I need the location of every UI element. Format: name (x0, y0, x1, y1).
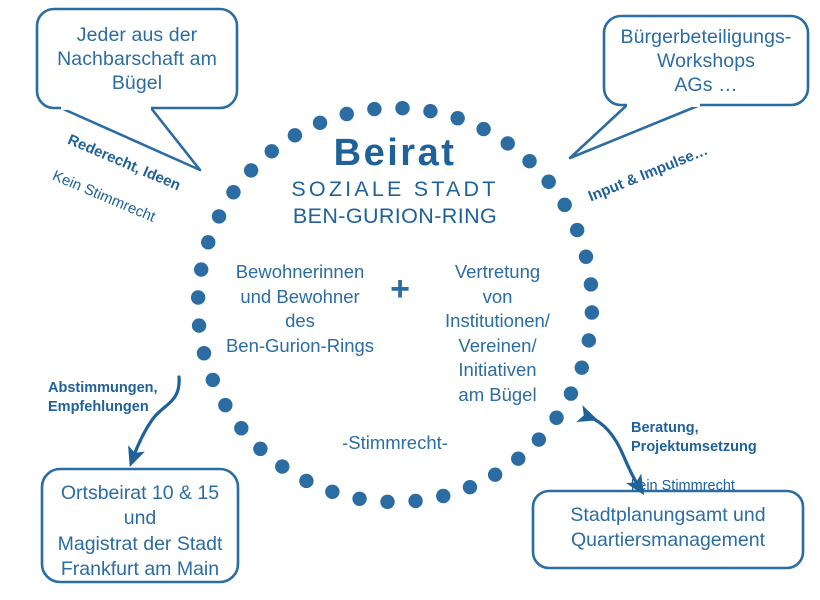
label-beratung-bold: Beratung, Projektumsetzung (631, 419, 811, 457)
ring-dot (450, 111, 464, 125)
ring-dot (549, 411, 563, 425)
label-beratung-projektumsetzung: Beratung, Projektumsetzung kein Stimmrec… (631, 400, 811, 515)
plus-icon: + (385, 272, 415, 306)
ring-dot (557, 198, 571, 212)
ring-dot (197, 346, 211, 360)
ring-dot (275, 459, 289, 473)
ring-dot (367, 102, 381, 116)
ring-dot (313, 116, 327, 130)
label-input-impulse-bold: Input & Impulse… (585, 140, 711, 206)
box-ortsbeirat-text: Ortsbeirat 10 & 15 und Magistrat der Sta… (42, 481, 238, 582)
ring-dot (218, 398, 232, 412)
ring-dot (395, 101, 409, 115)
label-abstimmungen-bold: Abstimmungen, Empfehlungen (48, 379, 208, 417)
ring-dot (226, 185, 240, 199)
inner-group-institutions: Vertretung von Institutionen/ Vereinen/ … (415, 260, 580, 408)
ring-dot (201, 235, 215, 249)
ring-dot (511, 451, 525, 465)
ring-dot (191, 290, 205, 304)
ring-dot (253, 442, 267, 456)
ring-dot (352, 492, 366, 506)
ring-dot (423, 104, 437, 118)
page-title: Beirat (245, 130, 545, 176)
ring-dot (194, 262, 208, 276)
bubble-top-left-text: Jeder aus der Nachbarschaft am Bügel (37, 24, 237, 95)
label-abstimmungen-empfehlungen: Abstimmungen, Empfehlungen (48, 360, 208, 437)
ring-dot (212, 209, 226, 223)
ring-dot (380, 495, 394, 509)
bubble-top-right-text: Bürgerbeteiligungs- Workshops AGs … (604, 26, 808, 97)
ring-dot (488, 467, 502, 481)
ring-dot (570, 223, 584, 237)
diagram-canvas: Jeder aus der Nachbarschaft am Bügel Red… (0, 0, 820, 600)
ring-dot (192, 318, 206, 332)
ring-dot (408, 494, 422, 508)
page-subtitle-2: BEN-GURION-RING (245, 203, 545, 229)
ring-dot (234, 421, 248, 435)
voting-rights-note: -Stimmrecht- (295, 432, 495, 455)
ring-dot (579, 250, 593, 264)
ring-dot (585, 305, 599, 319)
ring-dot (584, 277, 598, 291)
ring-dot (582, 333, 596, 347)
page-subtitle-1: SOZIALE STADT (245, 176, 545, 202)
ring-dot (325, 485, 339, 499)
ring-dot (463, 480, 477, 494)
ring-dot (436, 489, 450, 503)
box-stadtplanungsamt-text: Stadtplanungsamt und Quartiersmanagement (533, 503, 803, 554)
ring-dot (532, 432, 546, 446)
label-input-impulse: Input & Impulse… (578, 122, 718, 224)
inner-group-residents: Bewohnerinnen und Bewohner des Ben-Gurio… (215, 260, 385, 358)
ring-dot (299, 474, 313, 488)
label-beratung-regular: kein Stimmrecht (631, 477, 811, 496)
label-rederecht-ideen: Rederecht, Ideen Kein Stimmrecht (42, 112, 191, 249)
ring-dot (340, 107, 354, 121)
